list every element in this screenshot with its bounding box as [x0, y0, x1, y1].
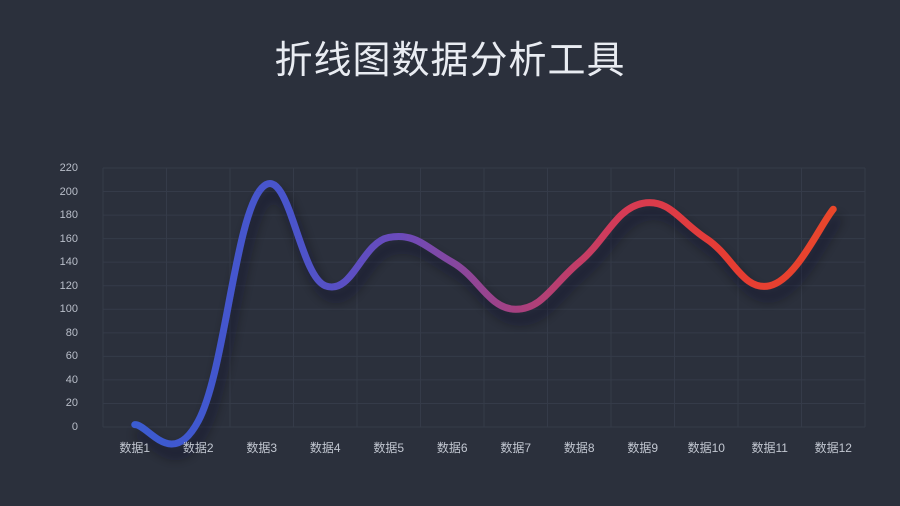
- y-axis-tick: 140: [34, 256, 78, 268]
- line-chart-plot: [0, 0, 900, 506]
- y-axis-tick: 180: [34, 209, 78, 221]
- x-axis-tick: 数据12: [793, 440, 873, 456]
- y-axis-tick: 120: [34, 280, 78, 292]
- y-axis-tick: 40: [34, 374, 78, 386]
- chart-app: 折线图数据分析工具 020406080100120140160180200220…: [0, 0, 900, 506]
- y-axis-tick: 60: [34, 350, 78, 362]
- y-axis-tick-labels: 020406080100120140160180200220: [34, 0, 78, 506]
- y-axis-tick: 220: [34, 162, 78, 174]
- y-axis-tick: 80: [34, 327, 78, 339]
- y-axis-tick: 20: [34, 397, 78, 409]
- x-axis-tick-labels: 数据1数据2数据3数据4数据5数据6数据7数据8数据9数据10数据11数据12: [0, 440, 900, 466]
- y-axis-tick: 200: [34, 186, 78, 198]
- y-axis-tick: 100: [34, 303, 78, 315]
- grid-lines: [103, 168, 865, 427]
- y-axis-tick: 0: [34, 421, 78, 433]
- y-axis-tick: 160: [34, 233, 78, 245]
